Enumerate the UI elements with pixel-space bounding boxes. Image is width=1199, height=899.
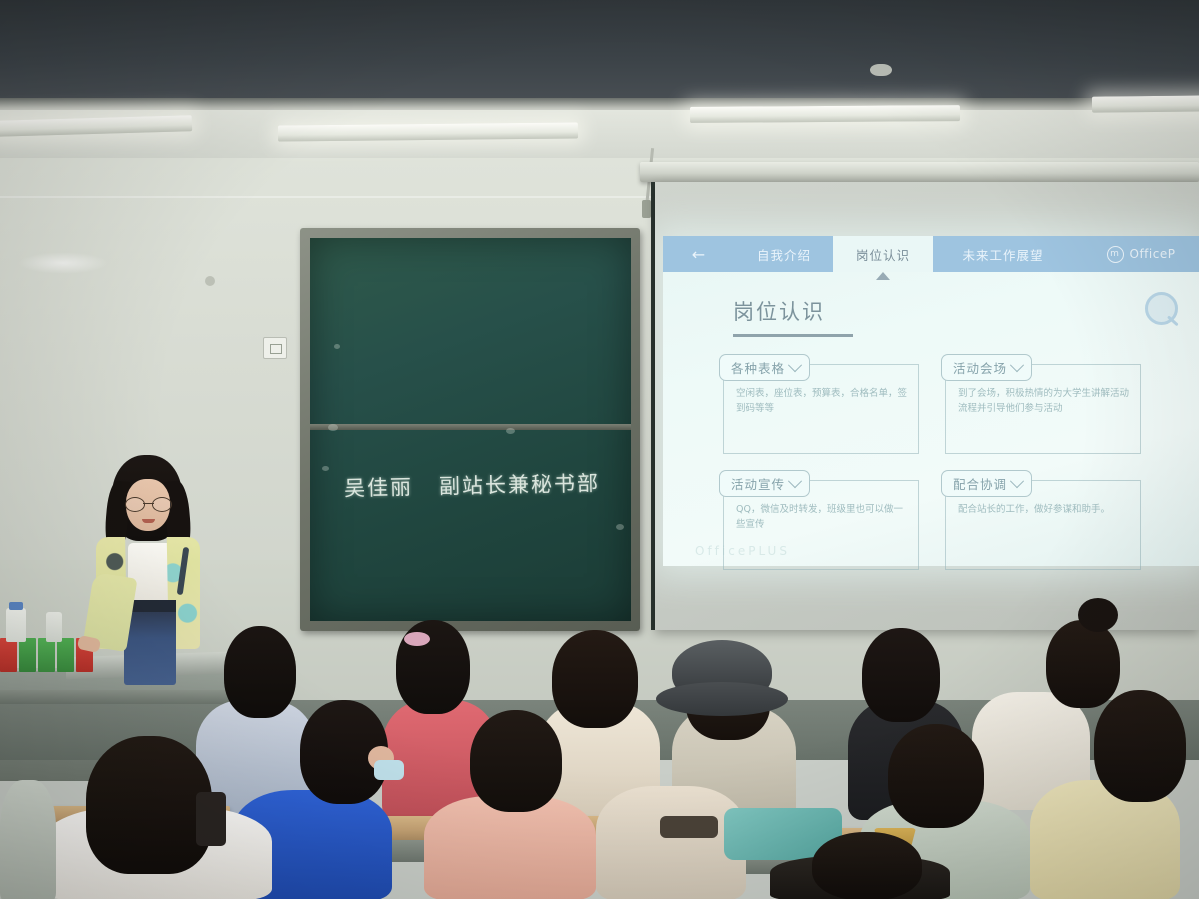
slide-ghost-watermark: OfficePLUS xyxy=(695,544,790,558)
audience-head xyxy=(1046,620,1120,708)
brand-watermark: m OfficeP xyxy=(1073,236,1199,272)
chevron-down-icon xyxy=(1010,474,1024,488)
chalk-dust xyxy=(506,428,515,434)
slide-title: 岗位认识 xyxy=(733,296,825,326)
wall-hook xyxy=(205,276,215,286)
classroom-photo: 吴佳丽副站长兼秘书部 ← 自我介绍 岗位认识 未来工作展望 m xyxy=(0,0,1199,899)
card-heading-pill[interactable]: 活动宣传 xyxy=(719,470,810,497)
blackboard-divider xyxy=(310,424,631,430)
slide-content: 岗位认识 空闲表，座位表，预算表，合格名单，签到码等等 各种表格 xyxy=(663,272,1199,566)
chalk-role: 副站长兼秘书部 xyxy=(439,471,600,498)
chalk-dust xyxy=(322,466,329,471)
slide-card-grid: 空闲表，座位表，预算表，合格名单，签到码等等 各种表格 到了会场，积极热情的为大… xyxy=(723,354,1141,570)
smoke-detector-icon xyxy=(870,64,892,76)
audience-head xyxy=(470,710,562,812)
card-heading-pill[interactable]: 活动会场 xyxy=(941,354,1032,381)
hair-bun xyxy=(1078,598,1118,632)
audience-head xyxy=(812,832,922,899)
chalk-dust xyxy=(328,424,338,431)
face-mask xyxy=(374,760,404,780)
projector-screen: ← 自我介绍 岗位认识 未来工作展望 m OfficeP 岗位认识 xyxy=(655,182,1199,630)
tab-label: 自我介绍 xyxy=(757,245,811,264)
wall-scuff xyxy=(18,252,108,274)
wall-socket[interactable] xyxy=(263,337,287,359)
slide-card: 到了会场，积极热情的为大学生讲解活动流程并引导他们参与活动 活动会场 xyxy=(945,354,1141,454)
podium-box xyxy=(0,638,17,672)
slide-card: 空闲表，座位表，预算表，合格名单，签到码等等 各种表格 xyxy=(723,354,919,454)
audience-head xyxy=(862,628,940,722)
slide-tab-bar: ← 自我介绍 岗位认识 未来工作展望 m OfficeP xyxy=(663,236,1199,272)
chevron-down-icon xyxy=(788,474,802,488)
officeplus-logo-icon: m xyxy=(1107,246,1124,263)
tab-job-understanding[interactable]: 岗位认识 xyxy=(833,236,933,272)
screen-pull-handle[interactable] xyxy=(642,200,651,218)
ceiling-lamp xyxy=(1092,95,1199,112)
blackboard xyxy=(300,228,640,631)
tab-self-introduction[interactable]: 自我介绍 xyxy=(735,236,833,272)
podium-box xyxy=(19,638,36,672)
presenter xyxy=(84,455,210,685)
card-heading: 活动会场 xyxy=(953,358,1007,377)
hair-clip xyxy=(404,632,430,646)
chalk-dust xyxy=(334,344,340,349)
chalk-name: 吴佳丽 xyxy=(344,475,413,500)
blackboard-chalk-text: 吴佳丽副站长兼秘书部 xyxy=(344,467,595,502)
item-on-desk xyxy=(660,816,718,838)
card-heading-pill[interactable]: 配合协调 xyxy=(941,470,1032,497)
card-heading-pill[interactable]: 各种表格 xyxy=(719,354,810,381)
ceiling-lamp xyxy=(690,105,960,123)
bottle-cap xyxy=(9,602,23,610)
projector-screen-roller xyxy=(640,162,1199,182)
ceiling xyxy=(0,0,1199,108)
podium-box xyxy=(38,638,55,672)
chalk-dust xyxy=(616,524,624,530)
audience-head xyxy=(86,736,212,874)
podium-box xyxy=(57,638,74,672)
brand-label: OfficeP xyxy=(1130,247,1176,261)
back-arrow-icon: ← xyxy=(692,245,706,264)
smartphone[interactable] xyxy=(196,792,226,846)
podium-rail xyxy=(0,690,250,704)
chevron-down-icon xyxy=(1010,358,1024,372)
slide-card: 配合站长的工作，做好参谋和助手。 配合协调 xyxy=(945,470,1141,570)
tab-label: 岗位认识 xyxy=(856,245,910,264)
tab-label: 未来工作展望 xyxy=(962,245,1043,264)
card-heading: 配合协调 xyxy=(953,474,1007,493)
card-heading: 活动宣传 xyxy=(731,474,785,493)
search-icon[interactable] xyxy=(1145,292,1181,328)
audience-member xyxy=(0,780,56,899)
chevron-down-icon xyxy=(788,358,802,372)
bucket-hat-brim xyxy=(656,682,788,716)
card-heading: 各种表格 xyxy=(731,358,785,377)
audience-head xyxy=(224,626,296,718)
title-underline xyxy=(733,334,853,337)
projected-slide: ← 自我介绍 岗位认识 未来工作展望 m OfficeP 岗位认识 xyxy=(663,236,1199,566)
slide-back-arrow[interactable]: ← xyxy=(663,236,735,272)
water-bottle xyxy=(46,612,62,642)
glasses-icon xyxy=(125,497,172,510)
presenter-mouth xyxy=(142,519,155,523)
water-bottle xyxy=(6,608,26,642)
audience-head xyxy=(552,630,638,728)
audience-head xyxy=(1094,690,1186,802)
audience-head xyxy=(888,724,984,828)
ceiling-lamp xyxy=(278,122,578,141)
tab-future-outlook[interactable]: 未来工作展望 xyxy=(933,236,1073,272)
